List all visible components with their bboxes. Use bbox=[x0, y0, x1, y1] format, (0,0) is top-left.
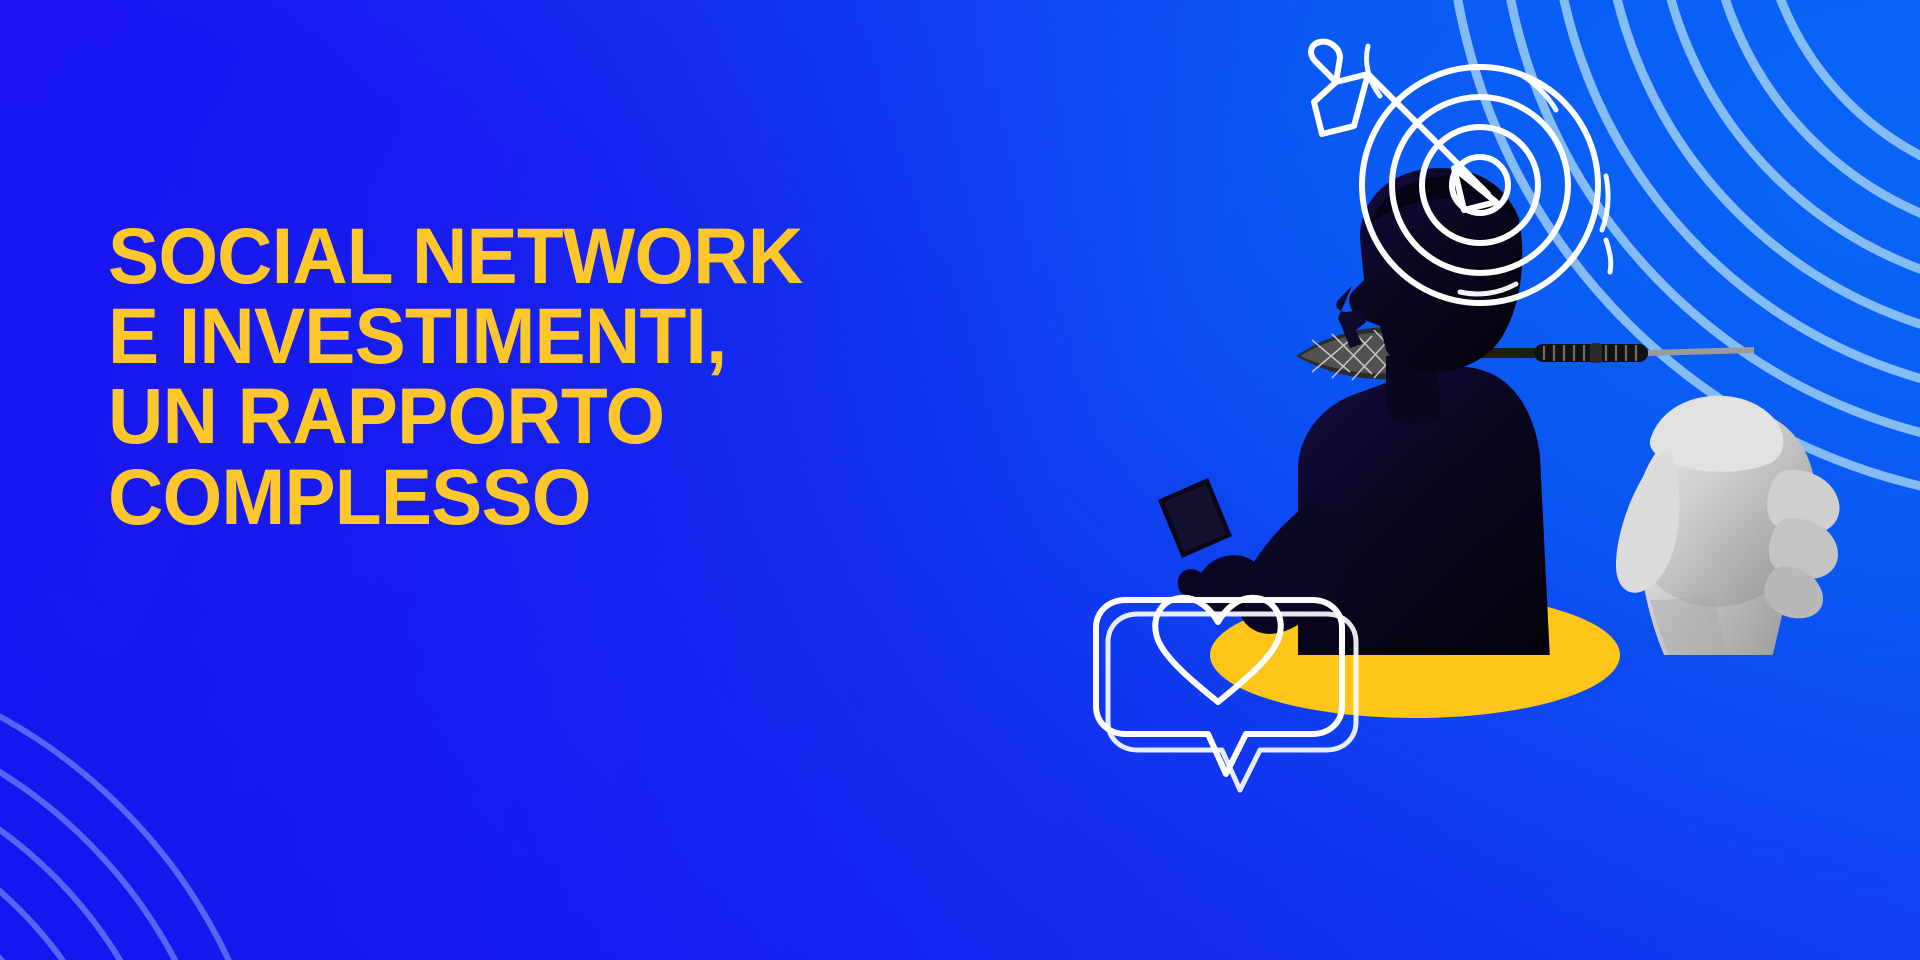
headline-block: SOCIAL NETWORK E INVESTIMENTI, UN RAPPOR… bbox=[108, 216, 988, 537]
banner-root: SOCIAL NETWORK E INVESTIMENTI, UN RAPPOR… bbox=[0, 0, 1920, 960]
dart-icon bbox=[1296, 327, 1754, 380]
page-title: SOCIAL NETWORK E INVESTIMENTI, UN RAPPOR… bbox=[108, 216, 962, 537]
artwork-svg bbox=[1050, 0, 1920, 960]
artwork-collage bbox=[1050, 0, 1920, 960]
hand-holding-dart bbox=[1616, 396, 1840, 720]
